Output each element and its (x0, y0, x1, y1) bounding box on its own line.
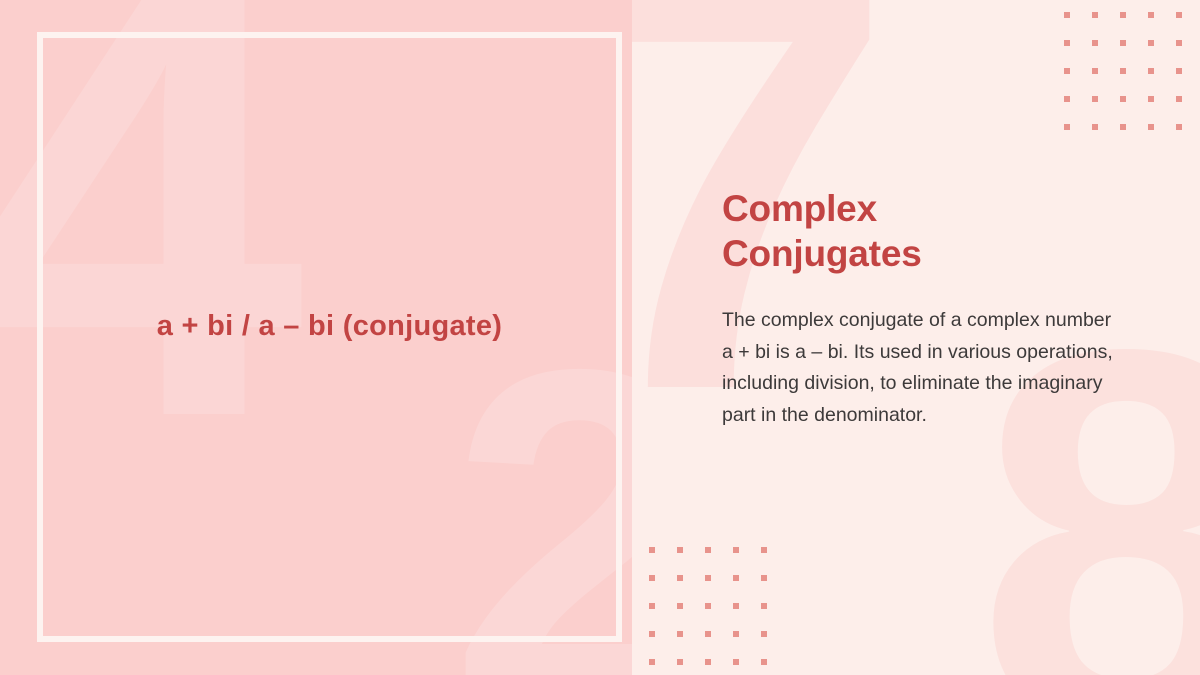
page-title: Complex Conjugates (722, 186, 1022, 276)
dot-square-icon (677, 631, 683, 637)
dot-square-icon (1064, 124, 1070, 130)
formula-expression: a + bi / a – bi (conjugate) (37, 310, 622, 343)
dot-square-icon (649, 659, 655, 665)
dot-square-icon (649, 547, 655, 553)
dot-square-icon (733, 603, 739, 609)
dot-square-icon (1176, 124, 1182, 130)
dot-square-icon (761, 659, 767, 665)
dot-square-icon (761, 603, 767, 609)
dot-square-icon (705, 631, 711, 637)
dot-square-icon (705, 547, 711, 553)
dot-square-icon (1176, 12, 1182, 18)
dot-square-icon (1120, 96, 1126, 102)
dot-grid-bottom-center (649, 547, 789, 675)
dot-square-icon (1092, 12, 1098, 18)
dot-square-icon (761, 547, 767, 553)
right-content-block: Complex Conjugates The complex conjugate… (722, 186, 1142, 432)
dot-square-icon (1148, 124, 1154, 130)
decorative-number-two: 2 (449, 300, 632, 675)
dot-square-icon (1064, 96, 1070, 102)
dot-square-icon (649, 631, 655, 637)
dot-square-icon (649, 575, 655, 581)
dot-square-icon (649, 603, 655, 609)
dot-square-icon (1176, 96, 1182, 102)
dot-square-icon (677, 659, 683, 665)
dot-square-icon (1064, 68, 1070, 74)
dot-square-icon (1120, 40, 1126, 46)
dot-square-icon (1120, 68, 1126, 74)
slide-root: 4 2 a + bi / a – bi (conjugate) 7 8 Comp… (0, 0, 1200, 675)
dot-square-icon (677, 575, 683, 581)
dot-square-icon (761, 575, 767, 581)
dot-square-icon (1148, 96, 1154, 102)
dot-grid-top-right (1064, 12, 1200, 152)
dot-square-icon (1092, 96, 1098, 102)
dot-square-icon (677, 603, 683, 609)
dot-square-icon (1176, 68, 1182, 74)
dot-square-icon (705, 603, 711, 609)
dot-square-icon (733, 631, 739, 637)
dot-square-icon (733, 547, 739, 553)
dot-square-icon (1120, 12, 1126, 18)
dot-square-icon (1120, 124, 1126, 130)
dot-square-icon (1176, 40, 1182, 46)
dot-square-icon (1064, 12, 1070, 18)
dot-square-icon (1148, 12, 1154, 18)
dot-square-icon (733, 575, 739, 581)
dot-square-icon (705, 659, 711, 665)
dot-square-icon (1148, 40, 1154, 46)
dot-square-icon (1064, 40, 1070, 46)
dot-square-icon (1092, 68, 1098, 74)
left-panel: 4 2 a + bi / a – bi (conjugate) (0, 0, 632, 675)
dot-square-icon (1148, 68, 1154, 74)
dot-square-icon (1092, 40, 1098, 46)
dot-square-icon (733, 659, 739, 665)
body-paragraph: The complex conjugate of a complex numbe… (722, 305, 1117, 431)
dot-square-icon (1092, 124, 1098, 130)
dot-square-icon (761, 631, 767, 637)
dot-square-icon (705, 575, 711, 581)
dot-square-icon (677, 547, 683, 553)
decorative-number-four: 4 (0, 0, 280, 510)
